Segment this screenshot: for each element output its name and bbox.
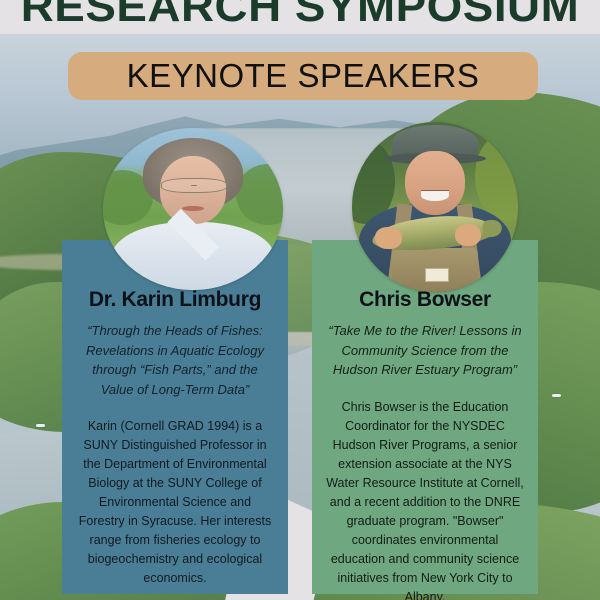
portrait-face [405,151,465,216]
boat-icon [36,424,45,427]
glasses-icon [161,178,228,193]
page-title: RESEARCH SYMPOSIUM [0,0,600,32]
gear-tag [425,268,449,282]
banner-label: KEYNOTE SPEAKERS [127,57,480,95]
boat-icon [552,394,561,397]
portrait-hand [375,227,402,249]
speaker-bio: Karin (Cornell GRAD 1994) is a SUNY Dist… [74,417,276,588]
speaker-card-chris-bowser: Chris Bowser “Take Me to the River! Less… [312,240,538,594]
speaker-talk-title: “Take Me to the River! Lessons in Commun… [324,321,526,380]
avatar-karin-limburg [103,128,283,290]
keynote-speakers-poster: RESEARCH SYMPOSIUM KEYNOTE SPEAKERS Dr. … [0,0,600,600]
speaker-talk-title: “Through the Heads of Fishes: Revelation… [74,321,276,399]
keynote-speakers-banner: KEYNOTE SPEAKERS [68,52,538,100]
title-strip: RESEARCH SYMPOSIUM [0,0,600,34]
avatar-chris-bowser [352,122,518,292]
speaker-bio: Chris Bowser is the Education Coordinato… [324,398,526,600]
portrait-hand [455,224,482,246]
speaker-card-karin-limburg: Dr. Karin Limburg “Through the Heads of … [62,240,288,594]
speaker-name: Dr. Karin Limburg [74,288,276,311]
